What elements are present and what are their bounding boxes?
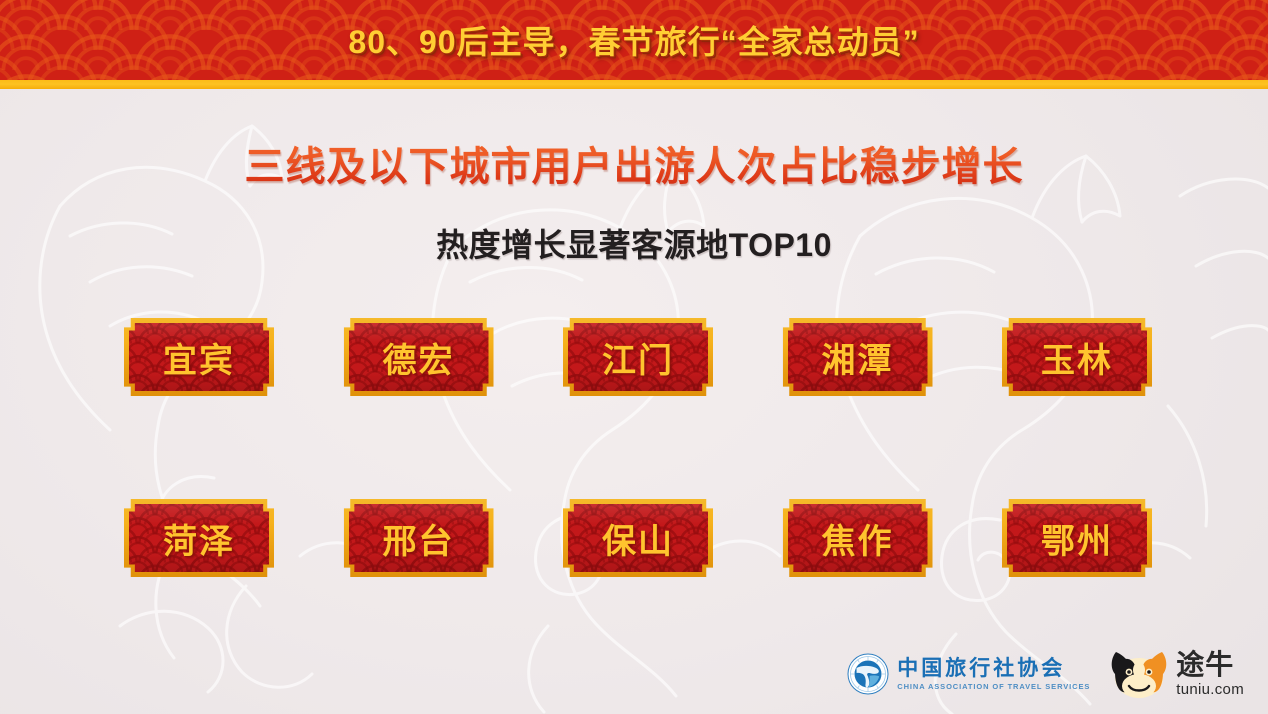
- city-label: 焦作: [822, 514, 894, 563]
- city-label: 鄂州: [1041, 514, 1113, 563]
- page-title: 三线及以下城市用户出游人次占比稳步增长: [0, 134, 1268, 192]
- city-label: 邢台: [383, 514, 455, 563]
- cow-mascot-icon: [1108, 648, 1170, 700]
- tuniu-text-block: 途牛 tuniu.com: [1176, 651, 1244, 697]
- city-grid: 宜宾 德宏 江门: [124, 318, 1152, 577]
- city-button-yulin[interactable]: 玉林: [1002, 318, 1152, 396]
- city-button-yibin[interactable]: 宜宾: [124, 318, 274, 396]
- cats-logo: 中国旅行社协会 CHINA ASSOCIATION OF TRAVEL SERV…: [847, 653, 1090, 695]
- page-subtitle: 热度增长显著客源地TOP10: [0, 220, 1268, 266]
- city-label: 湘潭: [822, 333, 894, 382]
- city-label: 江门: [602, 333, 674, 382]
- header-gold-divider: [0, 80, 1268, 89]
- city-label: 玉林: [1041, 333, 1113, 382]
- city-button-dehong[interactable]: 德宏: [344, 318, 494, 396]
- city-button-baoshan[interactable]: 保山: [563, 499, 713, 577]
- city-button-heze[interactable]: 菏泽: [124, 499, 274, 577]
- city-button-xiangtan[interactable]: 湘潭: [783, 318, 933, 396]
- tuniu-name-en: tuniu.com: [1176, 682, 1244, 697]
- cats-text-block: 中国旅行社协会 CHINA ASSOCIATION OF TRAVEL SERV…: [897, 658, 1090, 691]
- city-row-2: 菏泽 邢台 保山: [124, 499, 1152, 577]
- footer-logo-group: 中国旅行社协会 CHINA ASSOCIATION OF TRAVEL SERV…: [847, 648, 1244, 700]
- city-label: 德宏: [383, 333, 455, 382]
- city-button-jiangmen[interactable]: 江门: [563, 318, 713, 396]
- cats-name-cn: 中国旅行社协会: [897, 658, 1090, 679]
- city-button-jiaozuo[interactable]: 焦作: [783, 499, 933, 577]
- city-label: 宜宾: [163, 333, 235, 382]
- city-label: 菏泽: [163, 514, 235, 563]
- city-button-xingtai[interactable]: 邢台: [344, 499, 494, 577]
- city-row-1: 宜宾 德宏 江门: [124, 318, 1152, 396]
- city-label: 保山: [602, 514, 674, 563]
- city-button-ezhou[interactable]: 鄂州: [1002, 499, 1152, 577]
- banner-title: 80、90后主导，春节旅行“全家总动员”: [0, 0, 1268, 80]
- cats-name-en: CHINA ASSOCIATION OF TRAVEL SERVICES: [897, 683, 1090, 691]
- tuniu-logo: 途牛 tuniu.com: [1108, 648, 1244, 700]
- slide-root: 80、90后主导，春节旅行“全家总动员” 三线及以下城市用户出游人次占比稳步增长…: [0, 0, 1268, 714]
- globe-icon: [847, 653, 889, 695]
- tuniu-name-cn: 途牛: [1176, 651, 1244, 679]
